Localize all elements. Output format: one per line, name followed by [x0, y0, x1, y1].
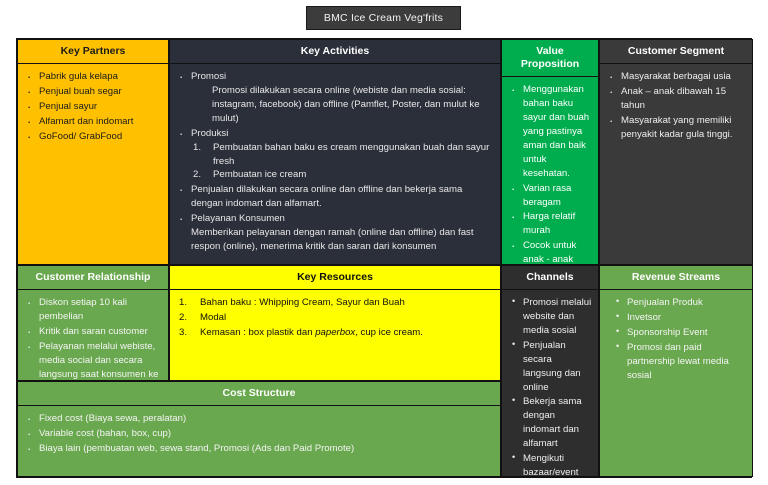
cell-key-activities[interactable]: Key Activities Promosi Promosi dilakukan…	[169, 39, 501, 265]
cell-value-proposition[interactable]: Value Proposition Menggunakan bahan baku…	[501, 39, 599, 265]
cost-structure-body: Fixed cost (Biaya sewa, peralatan) Varia…	[18, 406, 500, 461]
header-line-1: Value	[536, 45, 563, 57]
item-subtext: Promosi dilakukan secara online (webiste…	[191, 84, 494, 126]
list-item: Produksi 1.Pembuatan bahan baku es cream…	[176, 127, 494, 183]
cell-key-resources[interactable]: Key Resources 1.Bahan baku : Whipping Cr…	[169, 265, 501, 381]
cell-channels[interactable]: Channels Promosi melalui website dan med…	[501, 265, 599, 477]
key-resources-list: 1.Bahan baku : Whipping Cream, Sayur dan…	[176, 296, 494, 340]
bmc-page: BMC Ice Cream Veg'frits Key Partners Pab…	[0, 0, 768, 485]
cell-cost-structure[interactable]: Cost Structure Fixed cost (Biaya sewa, p…	[17, 381, 501, 477]
number-label: 2.	[179, 311, 187, 325]
number-label: 1.	[179, 296, 187, 310]
customer-relationship-header: Customer Relationship	[18, 266, 168, 290]
list-item: Menggunakan bahan baku sayur dan buah ya…	[508, 83, 592, 180]
list-item: Anak – anak dibawah 15 tahun	[606, 85, 746, 113]
list-item: Penjualan dilakukan secara online dan of…	[176, 183, 494, 211]
channels-body: Promosi melalui website dan media sosial…	[502, 290, 598, 477]
value-proposition-body: Menggunakan bahan baku sayur dan buah ya…	[502, 77, 598, 265]
customer-relationship-list: Diskon setiap 10 kali pembelian Kritik d…	[24, 296, 162, 381]
list-item: Varian rasa beragam	[508, 182, 592, 210]
channels-header: Channels	[502, 266, 598, 290]
list-item: Masyarakat berbagai usia	[606, 70, 746, 84]
business-model-canvas: Key Partners Pabrik gula kelapa Penjual …	[16, 38, 752, 478]
list-item: Pabrik gula kelapa	[24, 70, 162, 84]
list-item: Harga relatif murah	[508, 210, 592, 238]
cost-structure-header: Cost Structure	[18, 382, 500, 406]
key-partners-header: Key Partners	[18, 40, 168, 64]
list-item: Penjualan secara langsung dan online	[508, 339, 592, 395]
list-item: Sponsorship Event	[612, 326, 746, 340]
number-label: 2.	[193, 168, 201, 182]
list-item: Promosi dan paid partnership lewat media…	[612, 341, 746, 383]
list-item: Mengikuti bazaar/event	[508, 452, 592, 477]
customer-segment-list: Masyarakat berbagai usia Anak – anak dib…	[606, 70, 746, 142]
key-partners-list: Pabrik gula kelapa Penjual buah segar Pe…	[24, 70, 162, 144]
list-item: Pelayanan Konsumen Memberikan pelayanan …	[176, 212, 494, 254]
list-item: GoFood/ GrabFood	[24, 130, 162, 144]
cost-structure-list: Fixed cost (Biaya sewa, peralatan) Varia…	[24, 412, 494, 456]
item-text: Pembuatan ice cream	[213, 169, 306, 180]
channels-list: Promosi melalui website dan media sosial…	[508, 296, 592, 477]
list-item: Invetsor	[612, 311, 746, 325]
list-item: Bekerja sama dengan indomart dan alfamar…	[508, 395, 592, 451]
header-line-2: Proposition	[521, 58, 579, 70]
list-item: Biaya lain (pembuatan web, sewa stand, P…	[24, 442, 494, 456]
value-proposition-header: Value Proposition	[502, 40, 598, 77]
list-item: Penjualan Produk	[612, 296, 746, 310]
list-item: Alfamart dan indomart	[24, 115, 162, 129]
list-item: 3.Kemasan : box plastik dan paperbox, cu…	[176, 326, 494, 340]
list-item: Variable cost (bahan, box, cup)	[24, 427, 494, 441]
item-text-post: , cup ice cream.	[355, 327, 423, 338]
page-title: BMC Ice Cream Veg'frits	[306, 6, 461, 30]
item-text: Produksi	[191, 128, 228, 139]
key-activities-header: Key Activities	[170, 40, 500, 64]
item-text: Modal	[200, 312, 226, 323]
cell-customer-segment[interactable]: Customer Segment Masyarakat berbagai usi…	[599, 39, 753, 265]
list-item: 2.Modal	[176, 311, 494, 325]
value-proposition-list: Menggunakan bahan baku sayur dan buah ya…	[508, 83, 592, 265]
item-text-italic: paperbox	[315, 327, 355, 338]
item-subtext: Memberikan pelayanan dengan ramah (onlin…	[191, 226, 494, 254]
item-text: Bahan baku : Whipping Cream, Sayur dan B…	[200, 297, 405, 308]
key-activities-list: Promosi Promosi dilakukan secara online …	[176, 70, 494, 254]
revenue-streams-header: Revenue Streams	[600, 266, 752, 290]
customer-relationship-body: Diskon setiap 10 kali pembelian Kritik d…	[18, 290, 168, 381]
list-item: 1.Bahan baku : Whipping Cream, Sayur dan…	[176, 296, 494, 310]
list-item: Penjual sayur	[24, 100, 162, 114]
item-text: Promosi	[191, 71, 226, 82]
item-text-pre: Kemasan : box plastik dan	[200, 327, 315, 338]
list-item: Masyarakat yang memiliki penyakit kadar …	[606, 114, 746, 142]
cell-revenue-streams[interactable]: Revenue Streams Penjualan Produk Invetso…	[599, 265, 753, 477]
item-text: Pelayanan Konsumen	[191, 213, 285, 224]
key-partners-body: Pabrik gula kelapa Penjual buah segar Pe…	[18, 64, 168, 149]
list-item: Cocok untuk anak - anak	[508, 239, 592, 265]
key-resources-header: Key Resources	[170, 266, 500, 290]
list-item: Kritik dan saran customer	[24, 325, 162, 339]
list-item: 2.Pembuatan ice cream	[193, 168, 494, 182]
customer-segment-body: Masyarakat berbagai usia Anak – anak dib…	[600, 64, 752, 147]
item-text: Pembuatan bahan baku es cream menggunaka…	[213, 142, 489, 167]
list-item: Fixed cost (Biaya sewa, peralatan)	[24, 412, 494, 426]
number-label: 1.	[193, 141, 201, 155]
cell-key-partners[interactable]: Key Partners Pabrik gula kelapa Penjual …	[17, 39, 169, 265]
list-item: Promosi Promosi dilakukan secara online …	[176, 70, 494, 126]
cell-customer-relationship[interactable]: Customer Relationship Diskon setiap 10 k…	[17, 265, 169, 381]
revenue-streams-list: Penjualan Produk Invetsor Sponsorship Ev…	[606, 296, 746, 382]
list-item: Diskon setiap 10 kali pembelian	[24, 296, 162, 324]
list-item: Pelayanan melalui webiste, media social …	[24, 340, 162, 381]
revenue-streams-body: Penjualan Produk Invetsor Sponsorship Ev…	[600, 290, 752, 387]
key-resources-body: 1.Bahan baku : Whipping Cream, Sayur dan…	[170, 290, 500, 345]
key-activities-body: Promosi Promosi dilakukan secara online …	[170, 64, 500, 259]
list-item: Penjual buah segar	[24, 85, 162, 99]
customer-segment-header: Customer Segment	[600, 40, 752, 64]
list-item: Promosi melalui website dan media sosial	[508, 296, 592, 338]
number-label: 3.	[179, 326, 187, 340]
list-item: 1.Pembuatan bahan baku es cream mengguna…	[193, 141, 494, 169]
numbered-sublist: 1.Pembuatan bahan baku es cream mengguna…	[193, 141, 494, 183]
